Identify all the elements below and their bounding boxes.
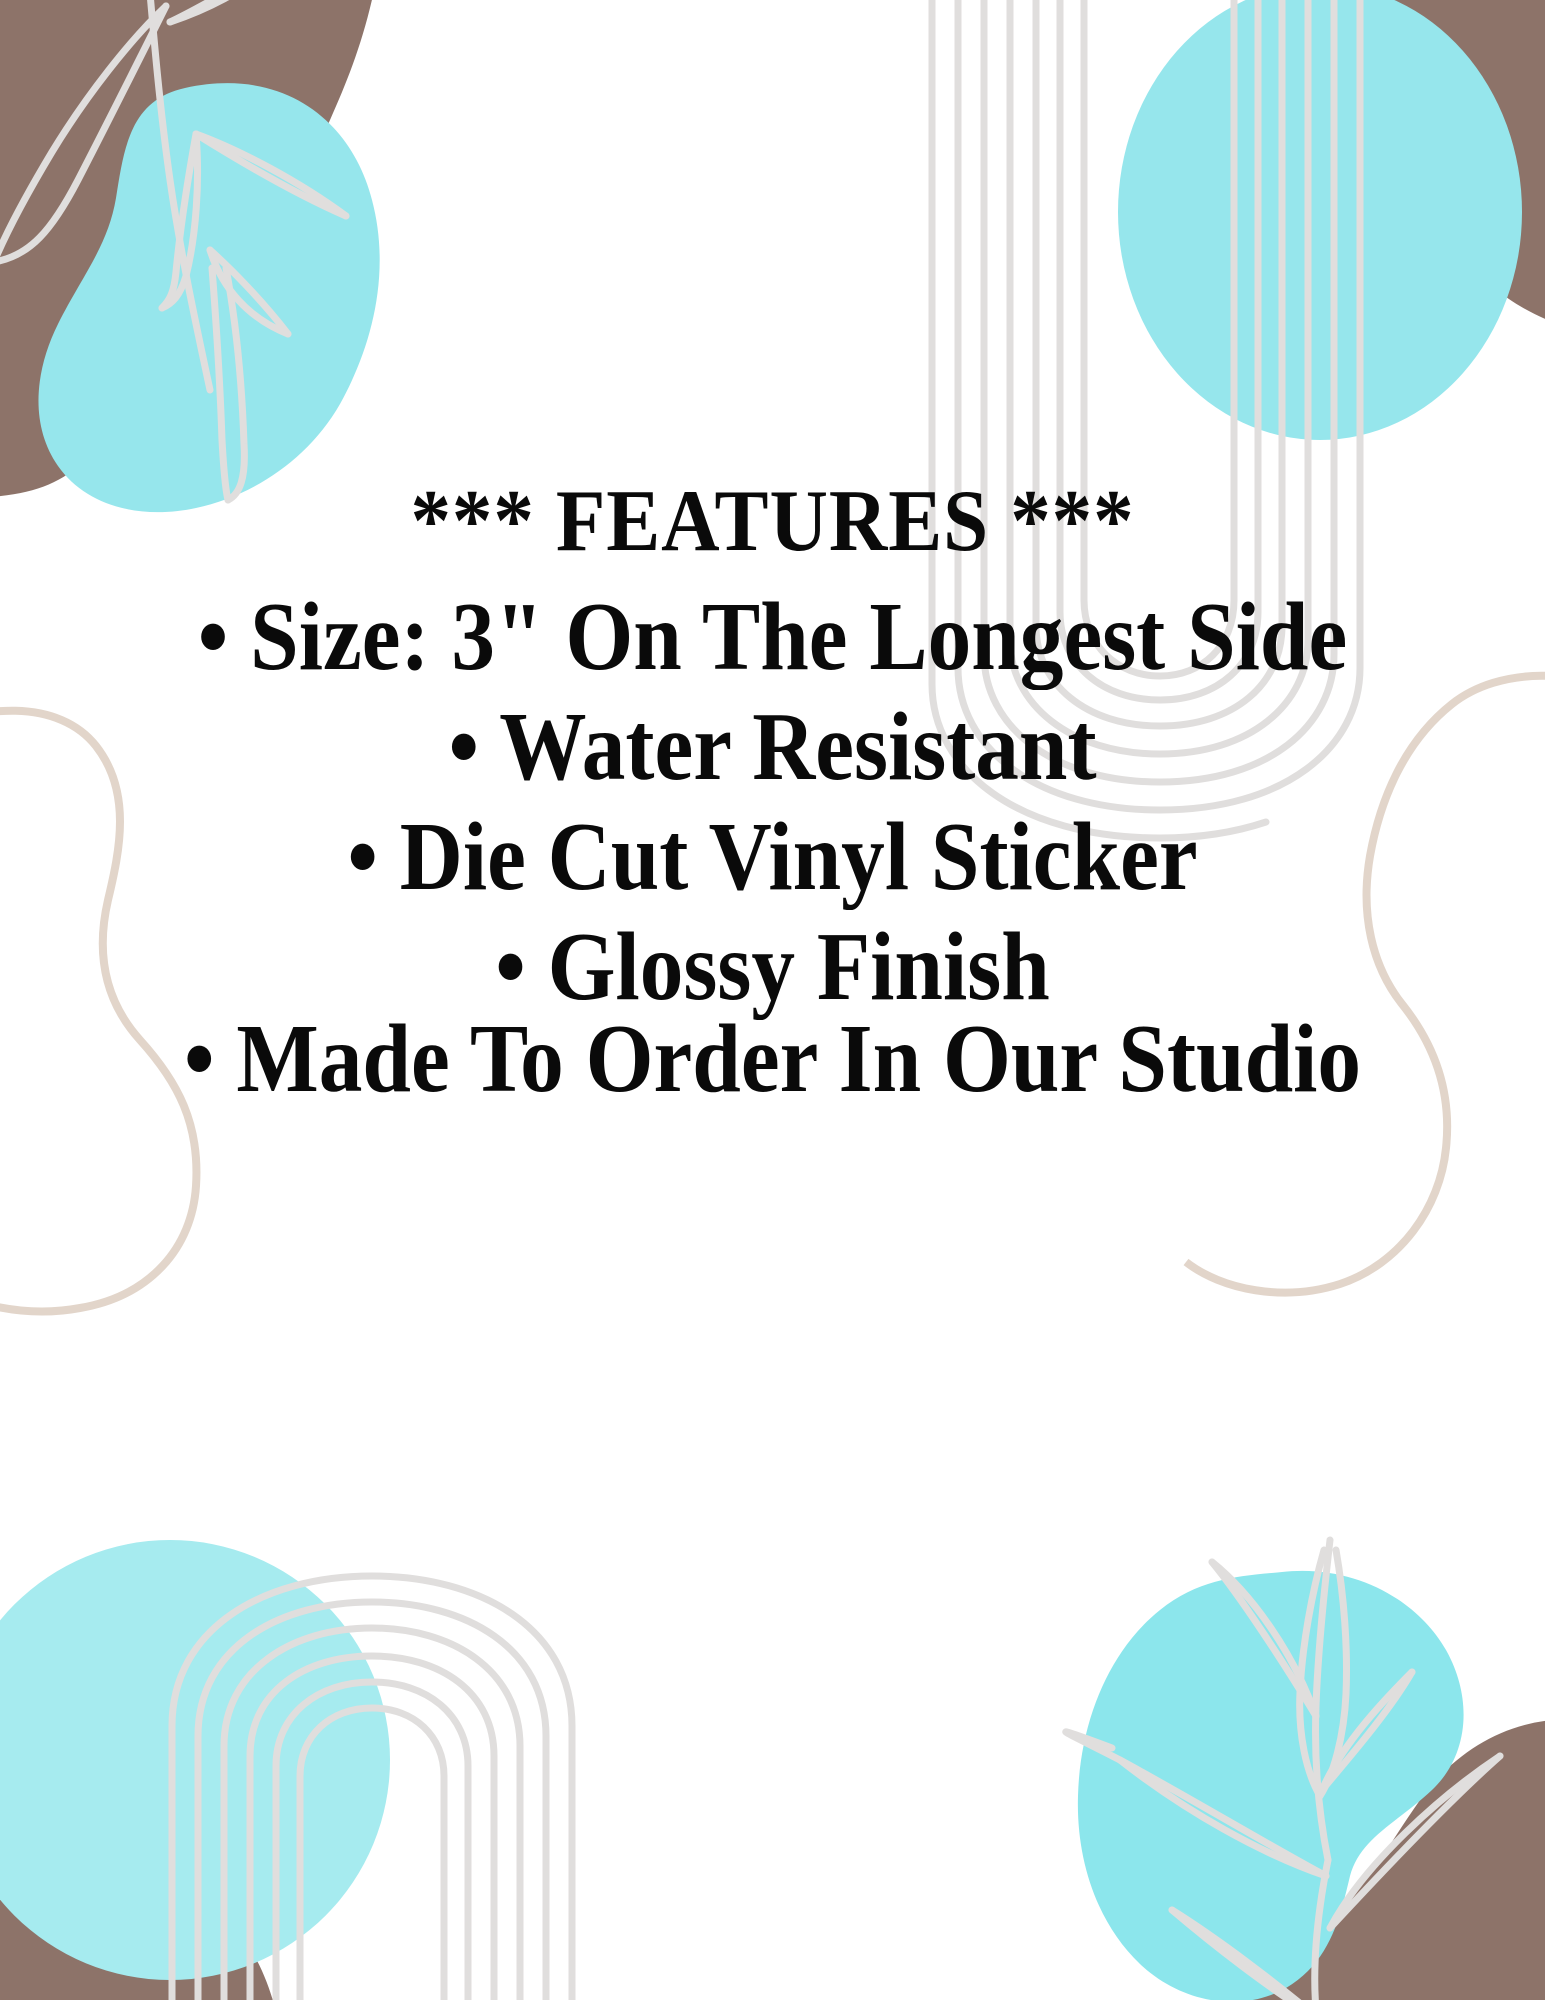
poster-canvas: *** FEATURES *** • Size: 3" On The Longe…: [0, 0, 1545, 2000]
feature-row-4: • Glossy Finish: [0, 918, 1545, 1015]
bottom-right-decoration: [1066, 1540, 1545, 2000]
brown-blob-bottom-left: [0, 1800, 282, 2000]
concentric-arch-line-art-bottom-left: [172, 1576, 572, 2000]
brown-blob-top-right: [1318, 0, 1545, 330]
feature-item-glossy-finish: • Glossy Finish: [77, 918, 1468, 1015]
page-title: *** FEATURES ***: [62, 478, 1483, 566]
cyan-blob-top-left: [38, 83, 379, 512]
feature-item-die-cut: • Die Cut Vinyl Sticker: [77, 808, 1468, 905]
feature-row-2: • Water Resistant: [0, 698, 1545, 795]
cyan-circle-bottom-left: [0, 1540, 390, 1980]
top-left-decoration: [0, 0, 380, 512]
cyan-blob-top-right: [1118, 0, 1522, 440]
feature-row-1: • Size: 3" On The Longest Side: [0, 588, 1545, 685]
features-title-row: *** FEATURES ***: [0, 478, 1545, 566]
feature-item-size: • Size: 3" On The Longest Side: [77, 588, 1468, 685]
cyan-blob-bottom-right: [1078, 1571, 1464, 2000]
feature-item-made-to-order: • Made To Order In Our Studio: [77, 1010, 1468, 1107]
eucalyptus-branch-line-art-top-left: [0, 0, 346, 500]
brown-blob-top-left: [0, 0, 380, 498]
feature-item-water-resistant: • Water Resistant: [77, 698, 1468, 795]
eucalyptus-branch-line-art-bottom-right: [1066, 1540, 1500, 2000]
brown-blob-bottom-right: [1190, 1719, 1545, 2000]
feature-row-3: • Die Cut Vinyl Sticker: [0, 808, 1545, 905]
bottom-left-decoration: [0, 1540, 572, 2000]
feature-row-5: • Made To Order In Our Studio: [0, 1010, 1545, 1107]
